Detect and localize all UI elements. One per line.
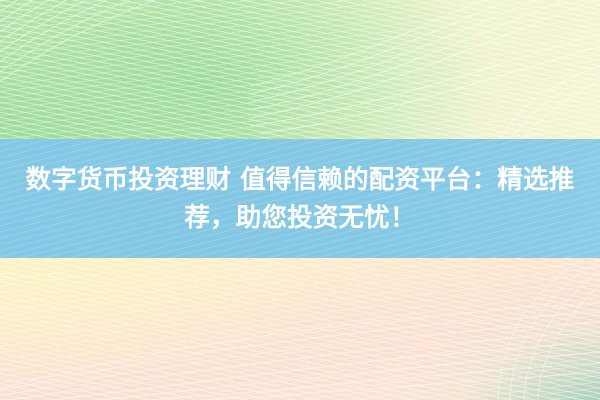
banner-headline: 数字货币投资理财 值得信赖的配资平台：精选推荐，助您投资无忧！	[1, 161, 599, 237]
top-gradient-panel	[0, 0, 600, 140]
bottom-line-texture-secondary	[0, 258, 600, 400]
bottom-gradient-panel	[0, 258, 600, 400]
top-line-texture-primary	[0, 0, 600, 140]
headline-container: 数字货币投资理财 值得信赖的配资平台：精选推荐，助您投资无忧！	[0, 139, 600, 258]
promo-banner: 数字货币投资理财 值得信赖的配资平台：精选推荐，助您投资无忧！	[0, 0, 600, 400]
bottom-line-texture-primary	[0, 258, 600, 400]
top-line-texture-secondary	[0, 0, 600, 140]
